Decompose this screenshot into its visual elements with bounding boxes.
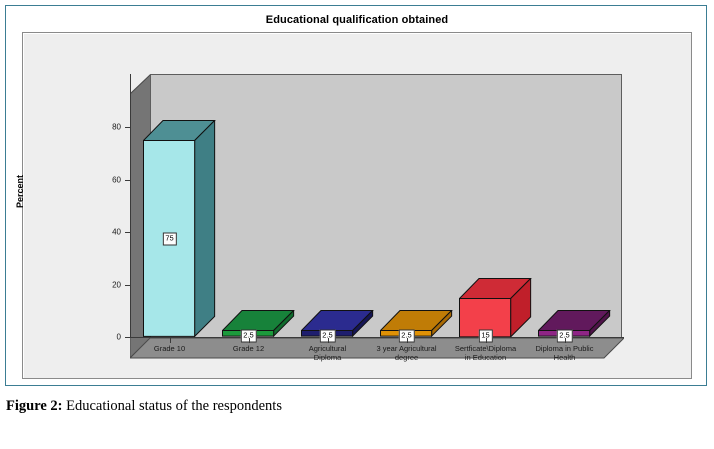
plot-back-wall — [150, 74, 622, 338]
bar[interactable] — [222, 310, 294, 337]
bar[interactable] — [538, 310, 610, 337]
y-tick-mark — [125, 127, 130, 128]
figure-caption-text: Educational status of the respondents — [63, 398, 282, 414]
plot-area: Percent 020406080 752.52.52.5152.5 Grade… — [23, 33, 693, 380]
x-tick-label: Grade 12 — [203, 344, 294, 353]
bar-3d-shape — [143, 120, 215, 337]
y-tick-label: 0 — [95, 333, 121, 342]
y-axis-title: Percent — [15, 175, 25, 208]
bar[interactable] — [380, 310, 452, 337]
figure-label: Figure 2: — [6, 398, 63, 414]
bar-3d-shape — [380, 310, 452, 337]
y-tick-mark — [125, 337, 130, 338]
x-tick-label: 3 year Agricultural degree — [361, 344, 452, 362]
bar[interactable] — [459, 278, 531, 337]
y-tick-mark — [125, 180, 130, 181]
bar-value-label: 75 — [162, 232, 176, 245]
y-tick-label: 60 — [95, 175, 121, 184]
x-tick-mark — [565, 338, 566, 343]
bar-3d-shape — [538, 310, 610, 337]
x-tick-label: Diploma in Public Health — [519, 344, 610, 362]
bar-3d-shape — [222, 310, 294, 337]
x-tick-mark — [328, 338, 329, 343]
x-tick-mark — [249, 338, 250, 343]
bar[interactable] — [143, 120, 215, 337]
bar-3d-shape — [301, 310, 373, 337]
x-tick-label: Sertficate\Diploma in Education — [440, 344, 531, 362]
x-tick-mark — [170, 338, 171, 343]
x-tick-mark — [486, 338, 487, 343]
y-axis-line — [130, 74, 131, 338]
y-tick-mark — [125, 285, 130, 286]
x-tick-mark — [407, 338, 408, 343]
figure-caption: Figure 2: Educational status of the resp… — [6, 398, 706, 415]
chart-panel: Percent 020406080 752.52.52.5152.5 Grade… — [22, 32, 692, 379]
y-tick-label: 40 — [95, 228, 121, 237]
y-tick-label: 20 — [95, 280, 121, 289]
chart-card: Educational qualification obtained Perce… — [5, 5, 707, 386]
x-axis-line — [130, 337, 624, 338]
y-tick-label: 80 — [95, 123, 121, 132]
x-tick-label: Grade 10 — [124, 344, 215, 353]
figure-container: Educational qualification obtained Perce… — [0, 0, 714, 449]
x-tick-label: Agricultural Diploma — [282, 344, 373, 362]
chart-title: Educational qualification obtained — [6, 14, 708, 26]
bar[interactable] — [301, 310, 373, 337]
y-tick-mark — [125, 232, 130, 233]
bar-3d-shape — [459, 278, 531, 337]
